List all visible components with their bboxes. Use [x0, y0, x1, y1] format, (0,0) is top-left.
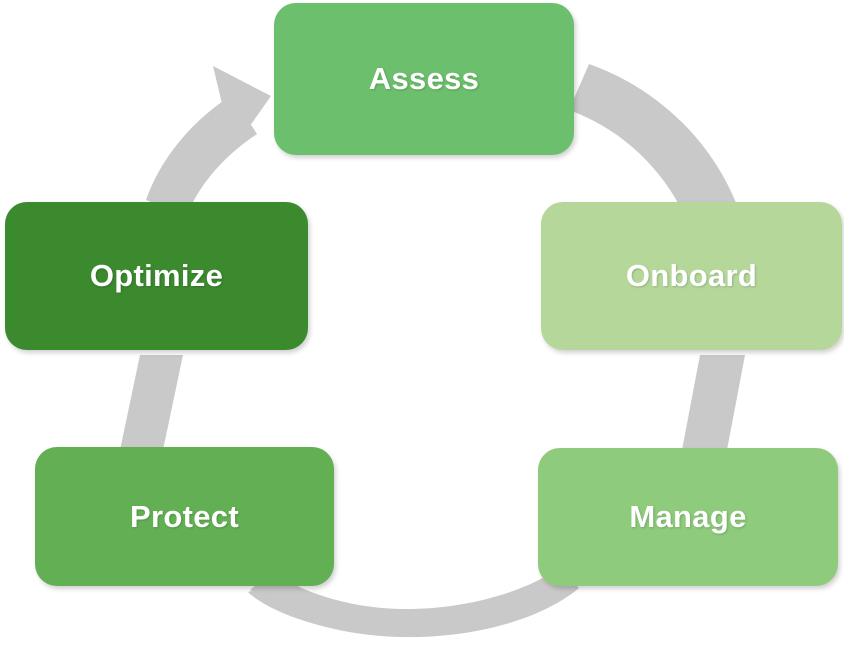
- cycle-node-protect-label: Protect: [130, 499, 239, 535]
- connector-onboard-to-manage: [682, 355, 745, 450]
- connector-protect-to-optimize: [120, 355, 183, 450]
- cycle-node-assess-label: Assess: [369, 61, 479, 97]
- cycle-node-manage[interactable]: Manage: [538, 448, 838, 586]
- cycle-node-optimize-label: Optimize: [90, 258, 223, 294]
- cycle-node-onboard[interactable]: Onboard: [541, 202, 842, 350]
- cycle-node-optimize[interactable]: Optimize: [5, 202, 308, 350]
- cycle-node-onboard-label: Onboard: [626, 258, 757, 294]
- cycle-node-manage-label: Manage: [629, 499, 746, 535]
- cycle-node-protect[interactable]: Protect: [35, 447, 334, 586]
- cycle-diagram: Assess Onboard Manage Protect Optimize: [0, 0, 844, 650]
- cycle-node-assess[interactable]: Assess: [274, 3, 574, 155]
